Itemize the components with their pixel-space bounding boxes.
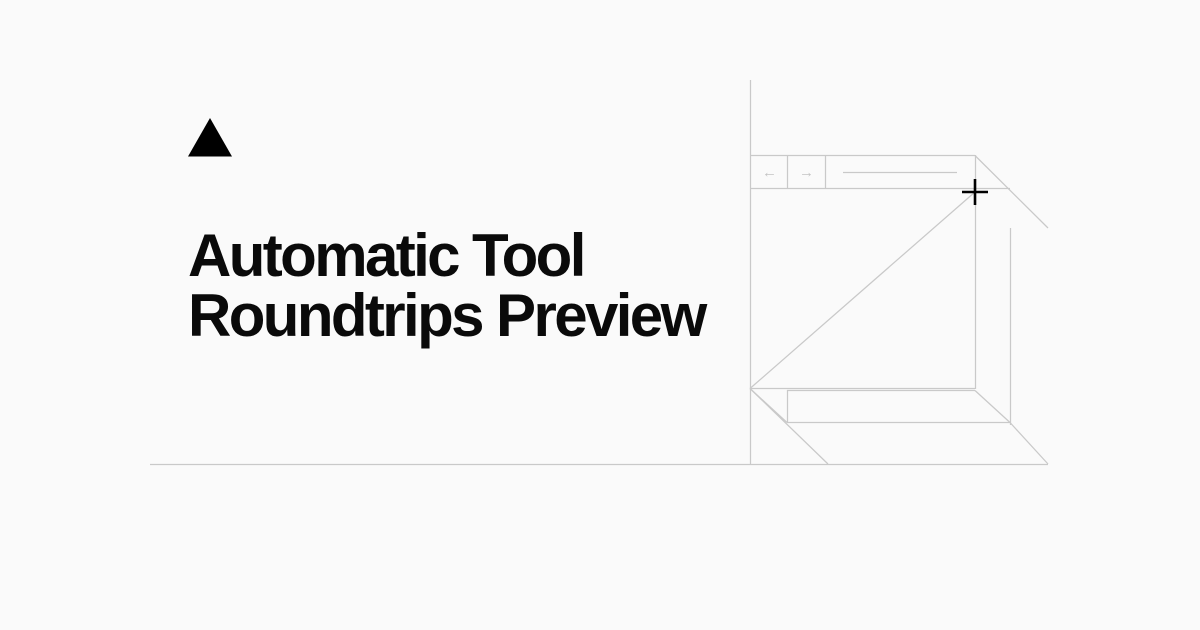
brand-block (188, 118, 728, 157)
viewport-diagonal (750, 192, 975, 389)
page-title-line-2: Roundtrips Preview (188, 286, 748, 346)
arrow-left-icon[interactable]: ← (762, 165, 777, 180)
floor-diagonal-lower (750, 389, 828, 465)
arrow-right-icon[interactable]: → (799, 165, 814, 180)
og-image-card: ← → Automatic Tool Roundtrips Preview (0, 0, 1200, 630)
page-title: Automatic Tool Roundtrips Preview (188, 226, 748, 346)
vercel-triangle-logo (188, 118, 232, 157)
crosshair-cursor-icon (962, 179, 988, 205)
panel-depth-edge-bottom (1010, 423, 1048, 465)
page-title-line-1: Automatic Tool (188, 226, 748, 286)
panel-depth-edge-top (975, 391, 1010, 423)
